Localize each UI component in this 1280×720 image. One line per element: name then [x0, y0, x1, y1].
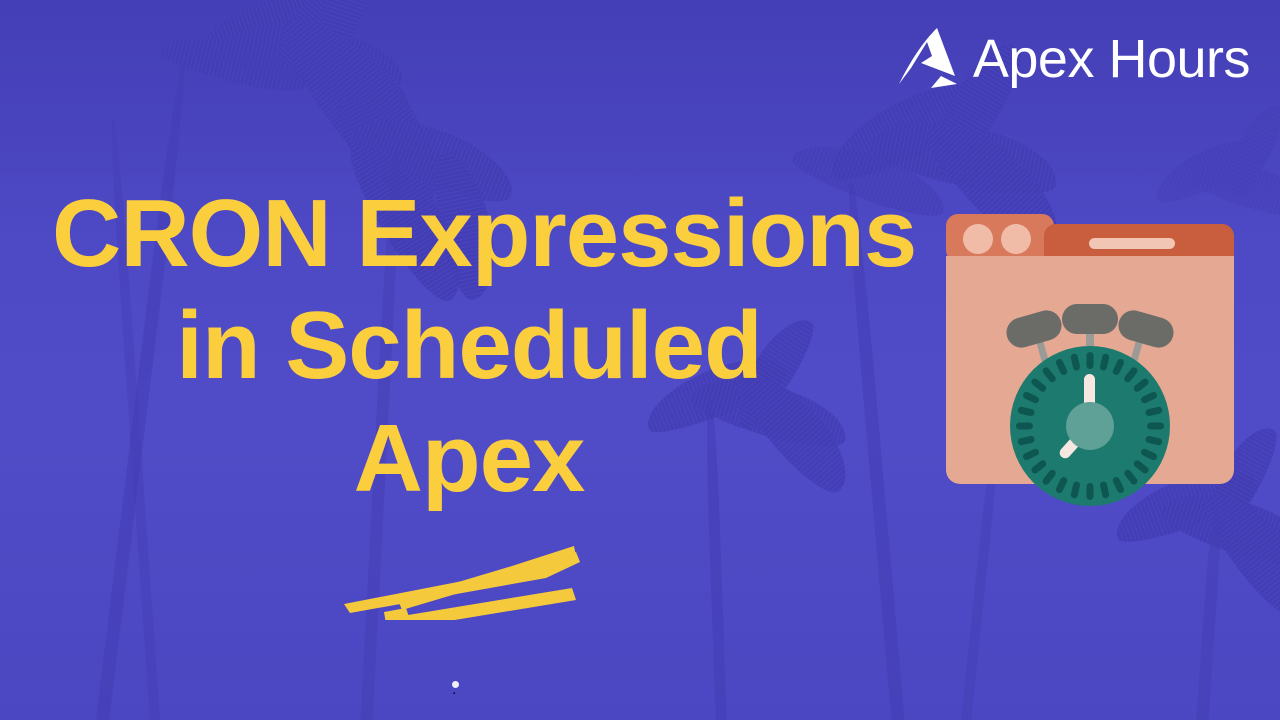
brand-logo-text: Apex Hours [973, 32, 1250, 86]
clock-bell [1062, 304, 1118, 334]
brand-logo[interactable]: Apex Hours [897, 26, 1250, 92]
browser-dot [963, 224, 993, 254]
title-line-2: in Scheduled [0, 290, 930, 402]
clock-hub [1066, 402, 1114, 450]
browser-window-with-alarm-clock-illustration [944, 212, 1236, 512]
browser-url-bar [1089, 238, 1175, 249]
title-line-1: CRON Expressions [0, 178, 930, 290]
apex-arrow-logo-icon [897, 26, 959, 92]
browser-tab [946, 214, 1054, 262]
page-title: CRON Expressions in Scheduled Apex [0, 178, 930, 515]
title-line-3: Apex [0, 403, 930, 515]
bottom-dot: . [452, 681, 459, 688]
browser-dot [1001, 224, 1031, 254]
scribble-underline-icon [340, 538, 600, 620]
slide-canvas: Apex Hours CRON Expressions in Scheduled… [0, 0, 1280, 720]
